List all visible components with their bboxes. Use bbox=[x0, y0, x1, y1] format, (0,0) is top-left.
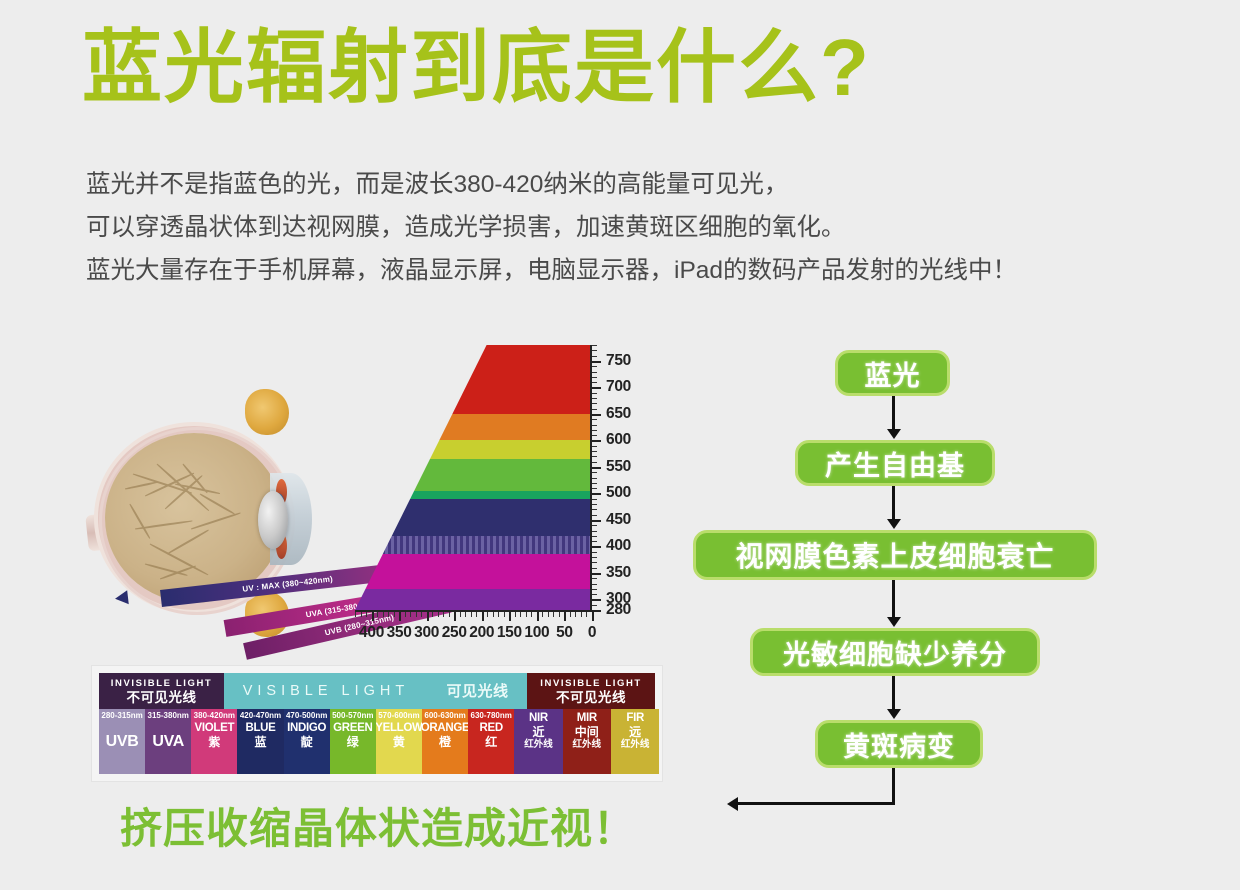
chart-y-minor-tick bbox=[592, 515, 597, 516]
spectrum-cell-label-en: RED bbox=[480, 721, 503, 735]
chart-x-tick bbox=[399, 612, 401, 621]
flow-arrow-4-icon bbox=[892, 676, 895, 710]
spectrum-group-label-cn: 不可见光线 bbox=[556, 690, 626, 705]
spectrum-cell-label-cn-sub: 红外线 bbox=[621, 739, 650, 750]
chart-y-minor-tick bbox=[592, 430, 597, 431]
spectrum-cell-violet: 380-420nmVIOLET紫 bbox=[191, 709, 237, 774]
chart-band-indigo bbox=[355, 499, 590, 536]
spectrum-group-invisible-left: INVISIBLE LIGHT不可见光线 bbox=[99, 673, 224, 709]
chart-y-tick bbox=[592, 361, 601, 363]
intro-line-3: 蓝光大量存在于手机屏幕，液晶显示屏，电脑显示器，iPad的数码产品发射的光线中！ bbox=[86, 249, 1166, 292]
chart-band-red bbox=[355, 345, 590, 414]
chart-x-tick bbox=[372, 612, 374, 621]
chart-y-tick-label: 400 bbox=[606, 537, 631, 555]
spectrum-cell-range: 570-600nm bbox=[378, 711, 419, 721]
spectrum-cell-label-cn: 黄 bbox=[393, 735, 405, 749]
crystalline-lens-icon bbox=[258, 491, 288, 549]
chart-x-minor-tick bbox=[388, 612, 389, 617]
chart-y-minor-tick bbox=[592, 419, 597, 420]
eye-muscle-top-icon bbox=[245, 389, 289, 435]
chart-y-tick-label: 450 bbox=[606, 511, 631, 529]
flow-tail-horizontal-icon bbox=[738, 802, 895, 805]
chart-y-minor-tick bbox=[592, 350, 597, 351]
chart-plot-area bbox=[355, 345, 590, 610]
spectrum-group-label-cn: 可见光线 bbox=[446, 684, 508, 699]
spectrum-cell-label-cn: 绿 bbox=[347, 735, 359, 749]
chart-x-minor-tick bbox=[438, 612, 439, 617]
chart-x-tick-label: 100 bbox=[524, 624, 549, 642]
spectrum-cell-range: 380-420nm bbox=[194, 711, 235, 721]
spectrum-cell-orange: 600-630nmORANGE橙 bbox=[422, 709, 468, 774]
spectrum-cell-range: 630-780nm bbox=[471, 711, 512, 721]
chart-x-minor-tick bbox=[515, 612, 516, 617]
chart-y-minor-tick bbox=[592, 372, 597, 373]
chart-y-tick-label: 750 bbox=[606, 352, 631, 370]
chart-y-tick bbox=[592, 520, 601, 522]
chart-y-minor-tick bbox=[592, 483, 597, 484]
spectrum-cell-fir: FIR远红外线 bbox=[611, 709, 659, 774]
spectrum-cell-label-en: MIR bbox=[577, 711, 597, 725]
spectrum-cell-range: 500-570nm bbox=[332, 711, 373, 721]
chart-y-minor-tick bbox=[592, 409, 597, 410]
spectrum-cell-range: 470-500nm bbox=[286, 711, 327, 721]
chart-y-tick-label: 700 bbox=[606, 378, 631, 396]
spectrum-group-label-en: INVISIBLE LIGHT bbox=[540, 678, 642, 690]
spectrum-cell-label-en: BLUE bbox=[245, 721, 275, 735]
spectrum-cell-green: 500-570nmGREEN绿 bbox=[330, 709, 376, 774]
eye-spectrum-illustration: UV : MAX (380~420nm) UVA (315-380nm) UVB… bbox=[85, 340, 670, 800]
chart-x-minor-tick bbox=[504, 612, 505, 617]
spectrum-cell-label-cn-sub: 红外线 bbox=[524, 739, 553, 750]
chart-y-tick bbox=[592, 599, 601, 601]
chart-y-tick bbox=[592, 414, 601, 416]
spectrum-group-invisible-right: INVISIBLE LIGHT不可见光线 bbox=[527, 673, 655, 709]
spectrum-cell-blue: 420-470nmBLUE蓝 bbox=[237, 709, 283, 774]
spectrum-cell-label-en: YELLOW bbox=[376, 721, 422, 735]
chart-y-minor-tick bbox=[592, 478, 597, 479]
chart-x-minor-tick bbox=[476, 612, 477, 617]
light-spectrum-legend: INVISIBLE LIGHT不可见光线VISIBLE LIGHT可见光线INV… bbox=[92, 666, 662, 781]
flow-step-macular-degeneration[interactable]: 黄斑病变 bbox=[815, 720, 983, 768]
chart-y-minor-tick bbox=[592, 589, 597, 590]
chart-x-minor-tick bbox=[487, 612, 488, 617]
chart-band-magenta bbox=[355, 554, 590, 588]
chart-x-axis: 400350300250200150100500 bbox=[355, 610, 592, 622]
chart-x-minor-tick bbox=[394, 612, 395, 617]
chart-y-minor-tick bbox=[592, 552, 597, 553]
chart-y-minor-tick bbox=[592, 393, 597, 394]
chart-x-minor-tick bbox=[559, 612, 560, 617]
chart-y-minor-tick bbox=[592, 472, 597, 473]
chart-x-minor-tick bbox=[383, 612, 384, 617]
flow-step-free-radicals[interactable]: 产生自由基 bbox=[795, 440, 995, 486]
spectrum-group-label-en: VISIBLE LIGHT bbox=[243, 685, 410, 697]
myopia-caption: 挤压收缩晶体状造成近视！ bbox=[120, 795, 636, 856]
chart-y-tick bbox=[592, 546, 601, 548]
beam-arrowhead-uvmax-icon bbox=[114, 590, 129, 605]
spectrum-cell-uva: 315-380nmUVA bbox=[145, 709, 191, 774]
chart-y-minor-tick bbox=[592, 462, 597, 463]
chart-band-yellow-green bbox=[355, 440, 590, 459]
spectrum-cell-label-cn: 蓝 bbox=[254, 735, 266, 749]
chart-y-minor-tick bbox=[592, 562, 597, 563]
chart-y-minor-tick bbox=[592, 382, 597, 383]
chart-y-minor-tick bbox=[592, 435, 597, 436]
chart-y-minor-tick bbox=[592, 531, 597, 532]
flow-arrow-2-icon bbox=[892, 486, 895, 520]
spectrum-cell-label-en: ORANGE bbox=[422, 721, 468, 735]
chart-band-purple bbox=[355, 589, 590, 610]
spectrum-cell-label: UVA bbox=[152, 735, 184, 749]
chart-x-tick-label: 250 bbox=[442, 624, 467, 642]
chart-y-tick bbox=[592, 440, 601, 442]
chart-x-minor-tick bbox=[526, 612, 527, 617]
chart-y-minor-tick bbox=[592, 594, 597, 595]
chart-band-green bbox=[355, 459, 590, 491]
chart-color-bands bbox=[355, 345, 590, 610]
chart-y-minor-tick bbox=[592, 557, 597, 558]
chart-y-axis: 750700650600550500450400350300280 bbox=[590, 345, 606, 610]
page-title: 蓝光辐射到底是什么? bbox=[82, 26, 871, 110]
chart-y-minor-tick bbox=[592, 488, 597, 489]
chart-x-minor-tick bbox=[416, 612, 417, 617]
spectrum-group-label-en: INVISIBLE LIGHT bbox=[111, 678, 213, 690]
chart-x-minor-tick bbox=[520, 612, 521, 617]
spectrum-cell-label-en: INDIGO bbox=[287, 721, 326, 735]
spectrum-cell-red: 630-780nmRED红 bbox=[468, 709, 514, 774]
chart-x-tick-label: 150 bbox=[497, 624, 522, 642]
flow-step-photoreceptor-malnutrition[interactable]: 光敏细胞缺少养分 bbox=[750, 628, 1040, 676]
spectrum-cell-label-en: VIOLET bbox=[194, 721, 234, 735]
chart-x-tick-label: 0 bbox=[588, 624, 596, 642]
spectrum-penetration-chart: 750700650600550500450400350300280 400350… bbox=[355, 345, 667, 635]
chart-x-minor-tick bbox=[421, 612, 422, 617]
chart-x-minor-tick bbox=[460, 612, 461, 617]
spectrum-cell-mir: MIR中间红外线 bbox=[563, 709, 611, 774]
flow-tail-vertical-icon bbox=[892, 768, 895, 805]
spectrum-cell-nir: NIR近红外线 bbox=[514, 709, 562, 774]
spectrum-cell-label-cn: 近 bbox=[532, 725, 544, 739]
chart-y-tick-label: 280 bbox=[606, 601, 631, 619]
chart-x-minor-tick bbox=[471, 612, 472, 617]
chart-y-minor-tick bbox=[592, 403, 597, 404]
chart-x-tick bbox=[592, 612, 594, 621]
chart-x-minor-tick bbox=[432, 612, 433, 617]
chart-x-minor-tick bbox=[377, 612, 378, 617]
chart-x-tick bbox=[427, 612, 429, 621]
chart-y-tick bbox=[592, 387, 601, 389]
chart-y-minor-tick bbox=[592, 578, 597, 579]
chart-y-tick-label: 500 bbox=[606, 484, 631, 502]
chart-x-minor-tick bbox=[570, 612, 571, 617]
chart-x-minor-tick bbox=[361, 612, 362, 617]
chart-y-minor-tick bbox=[592, 568, 597, 569]
chart-y-minor-tick bbox=[592, 425, 597, 426]
chart-y-minor-tick bbox=[592, 525, 597, 526]
flow-step-rpe-cell-death[interactable]: 视网膜色素上皮细胞衰亡 bbox=[693, 530, 1097, 580]
chart-x-minor-tick bbox=[465, 612, 466, 617]
blue-light-damage-flowchart: 蓝光 产生自由基 视网膜色素上皮细胞衰亡 光敏细胞缺少养分 黄斑病变 bbox=[690, 340, 1160, 840]
spectrum-legend-group-row: INVISIBLE LIGHT不可见光线VISIBLE LIGHT可见光线INV… bbox=[99, 673, 655, 709]
eye-anterior-segment bbox=[258, 473, 310, 565]
spectrum-cell-range: 420-470nm bbox=[240, 711, 281, 721]
chart-band-hatch-overlay bbox=[355, 536, 590, 555]
chart-y-minor-tick bbox=[592, 356, 597, 357]
spectrum-cell-label-en: GREEN bbox=[333, 721, 372, 735]
chart-x-tick bbox=[509, 612, 511, 621]
spectrum-cell-range: 315-380nm bbox=[148, 711, 189, 721]
chart-x-tick bbox=[537, 612, 539, 621]
chart-y-minor-tick bbox=[592, 509, 597, 510]
spectrum-cell-label-cn: 橙 bbox=[439, 735, 451, 749]
spectrum-cell-label-en: NIR bbox=[529, 711, 548, 725]
chart-x-tick-label: 400 bbox=[359, 624, 384, 642]
chart-x-minor-tick bbox=[410, 612, 411, 617]
chart-x-tick bbox=[454, 612, 456, 621]
chart-x-minor-tick bbox=[531, 612, 532, 617]
spectrum-cell-label-cn: 远 bbox=[629, 725, 641, 739]
chart-y-minor-tick bbox=[592, 345, 597, 346]
spectrum-legend-cell-row: 280-315nmUVB315-380nmUVA380-420nmVIOLET紫… bbox=[99, 709, 655, 774]
chart-x-minor-tick bbox=[575, 612, 576, 617]
chart-y-tick-label: 650 bbox=[606, 405, 631, 423]
chart-band-teal-green bbox=[355, 491, 590, 499]
intro-paragraph: 蓝光并不是指蓝色的光，而是波长380-420纳米的高能量可见光， 可以穿透晶状体… bbox=[86, 163, 1166, 292]
chart-y-tick-label: 600 bbox=[606, 431, 631, 449]
chart-x-minor-tick bbox=[443, 612, 444, 617]
eye-anatomy-diagram: UV : MAX (380~420nm) UVA (315-380nm) UVB… bbox=[95, 395, 345, 640]
chart-y-tick bbox=[592, 573, 601, 575]
chart-x-minor-tick bbox=[553, 612, 554, 617]
intro-line-1: 蓝光并不是指蓝色的光，而是波长380-420纳米的高能量可见光， bbox=[86, 163, 1166, 206]
chart-x-minor-tick bbox=[498, 612, 499, 617]
chart-x-minor-tick bbox=[542, 612, 543, 617]
chart-x-minor-tick bbox=[548, 612, 549, 617]
spectrum-cell-label-cn: 中间 bbox=[575, 725, 599, 739]
flow-arrow-3-icon bbox=[892, 580, 895, 618]
chart-x-minor-tick bbox=[581, 612, 582, 617]
spectrum-group-visible: VISIBLE LIGHT可见光线 bbox=[224, 673, 527, 709]
spectrum-cell-label-en: FIR bbox=[626, 711, 644, 725]
chart-y-minor-tick bbox=[592, 451, 597, 452]
chart-y-tick-label: 350 bbox=[606, 564, 631, 582]
spectrum-cell-label-cn: 红 bbox=[485, 735, 497, 749]
chart-y-minor-tick bbox=[592, 584, 597, 585]
chart-x-minor-tick bbox=[355, 612, 356, 617]
chart-x-tick-label: 200 bbox=[469, 624, 494, 642]
spectrum-cell-label-cn: 靛 bbox=[301, 735, 313, 749]
chart-x-tick bbox=[564, 612, 566, 621]
spectrum-cell-uvb: 280-315nmUVB bbox=[99, 709, 145, 774]
chart-y-tick bbox=[592, 493, 601, 495]
flow-tail-arrowhead-icon bbox=[727, 797, 738, 811]
spectrum-cell-label: UVB bbox=[106, 735, 139, 749]
spectrum-cell-range: 280-315nm bbox=[101, 711, 142, 721]
chart-y-minor-tick bbox=[592, 605, 597, 606]
chart-x-minor-tick bbox=[449, 612, 450, 617]
chart-y-minor-tick bbox=[592, 377, 597, 378]
chart-x-minor-tick bbox=[366, 612, 367, 617]
chart-y-minor-tick bbox=[592, 536, 597, 537]
chart-y-minor-tick bbox=[592, 499, 597, 500]
chart-y-minor-tick bbox=[592, 398, 597, 399]
chart-y-minor-tick bbox=[592, 504, 597, 505]
chart-y-minor-tick bbox=[592, 446, 597, 447]
flow-arrow-1-icon bbox=[892, 396, 895, 430]
spectrum-cell-label-cn: 紫 bbox=[208, 735, 220, 749]
chart-x-tick-label: 50 bbox=[556, 624, 573, 642]
chart-y-minor-tick bbox=[592, 366, 597, 367]
chart-x-tick bbox=[482, 612, 484, 621]
chart-y-tick-label: 550 bbox=[606, 458, 631, 476]
chart-y-tick bbox=[592, 467, 601, 469]
intro-line-2: 可以穿透晶状体到达视网膜，造成光学损害，加速黄斑区细胞的氧化。 bbox=[86, 206, 1166, 249]
chart-x-minor-tick bbox=[586, 612, 587, 617]
chart-x-minor-tick bbox=[405, 612, 406, 617]
chart-x-minor-tick bbox=[493, 612, 494, 617]
chart-y-minor-tick bbox=[592, 456, 597, 457]
chart-x-tick-label: 300 bbox=[414, 624, 439, 642]
chart-y-minor-tick bbox=[592, 541, 597, 542]
spectrum-cell-yellow: 570-600nmYELLOW黄 bbox=[376, 709, 422, 774]
chart-x-tick-label: 350 bbox=[387, 624, 412, 642]
spectrum-cell-label-cn-sub: 红外线 bbox=[573, 739, 602, 750]
flow-step-blue-light[interactable]: 蓝光 bbox=[835, 350, 950, 396]
spectrum-cell-indigo: 470-500nmINDIGO靛 bbox=[284, 709, 330, 774]
spectrum-cell-range: 600-630nm bbox=[424, 711, 465, 721]
spectrum-group-label-cn: 不可见光线 bbox=[127, 690, 197, 705]
chart-band-orange bbox=[355, 414, 590, 441]
